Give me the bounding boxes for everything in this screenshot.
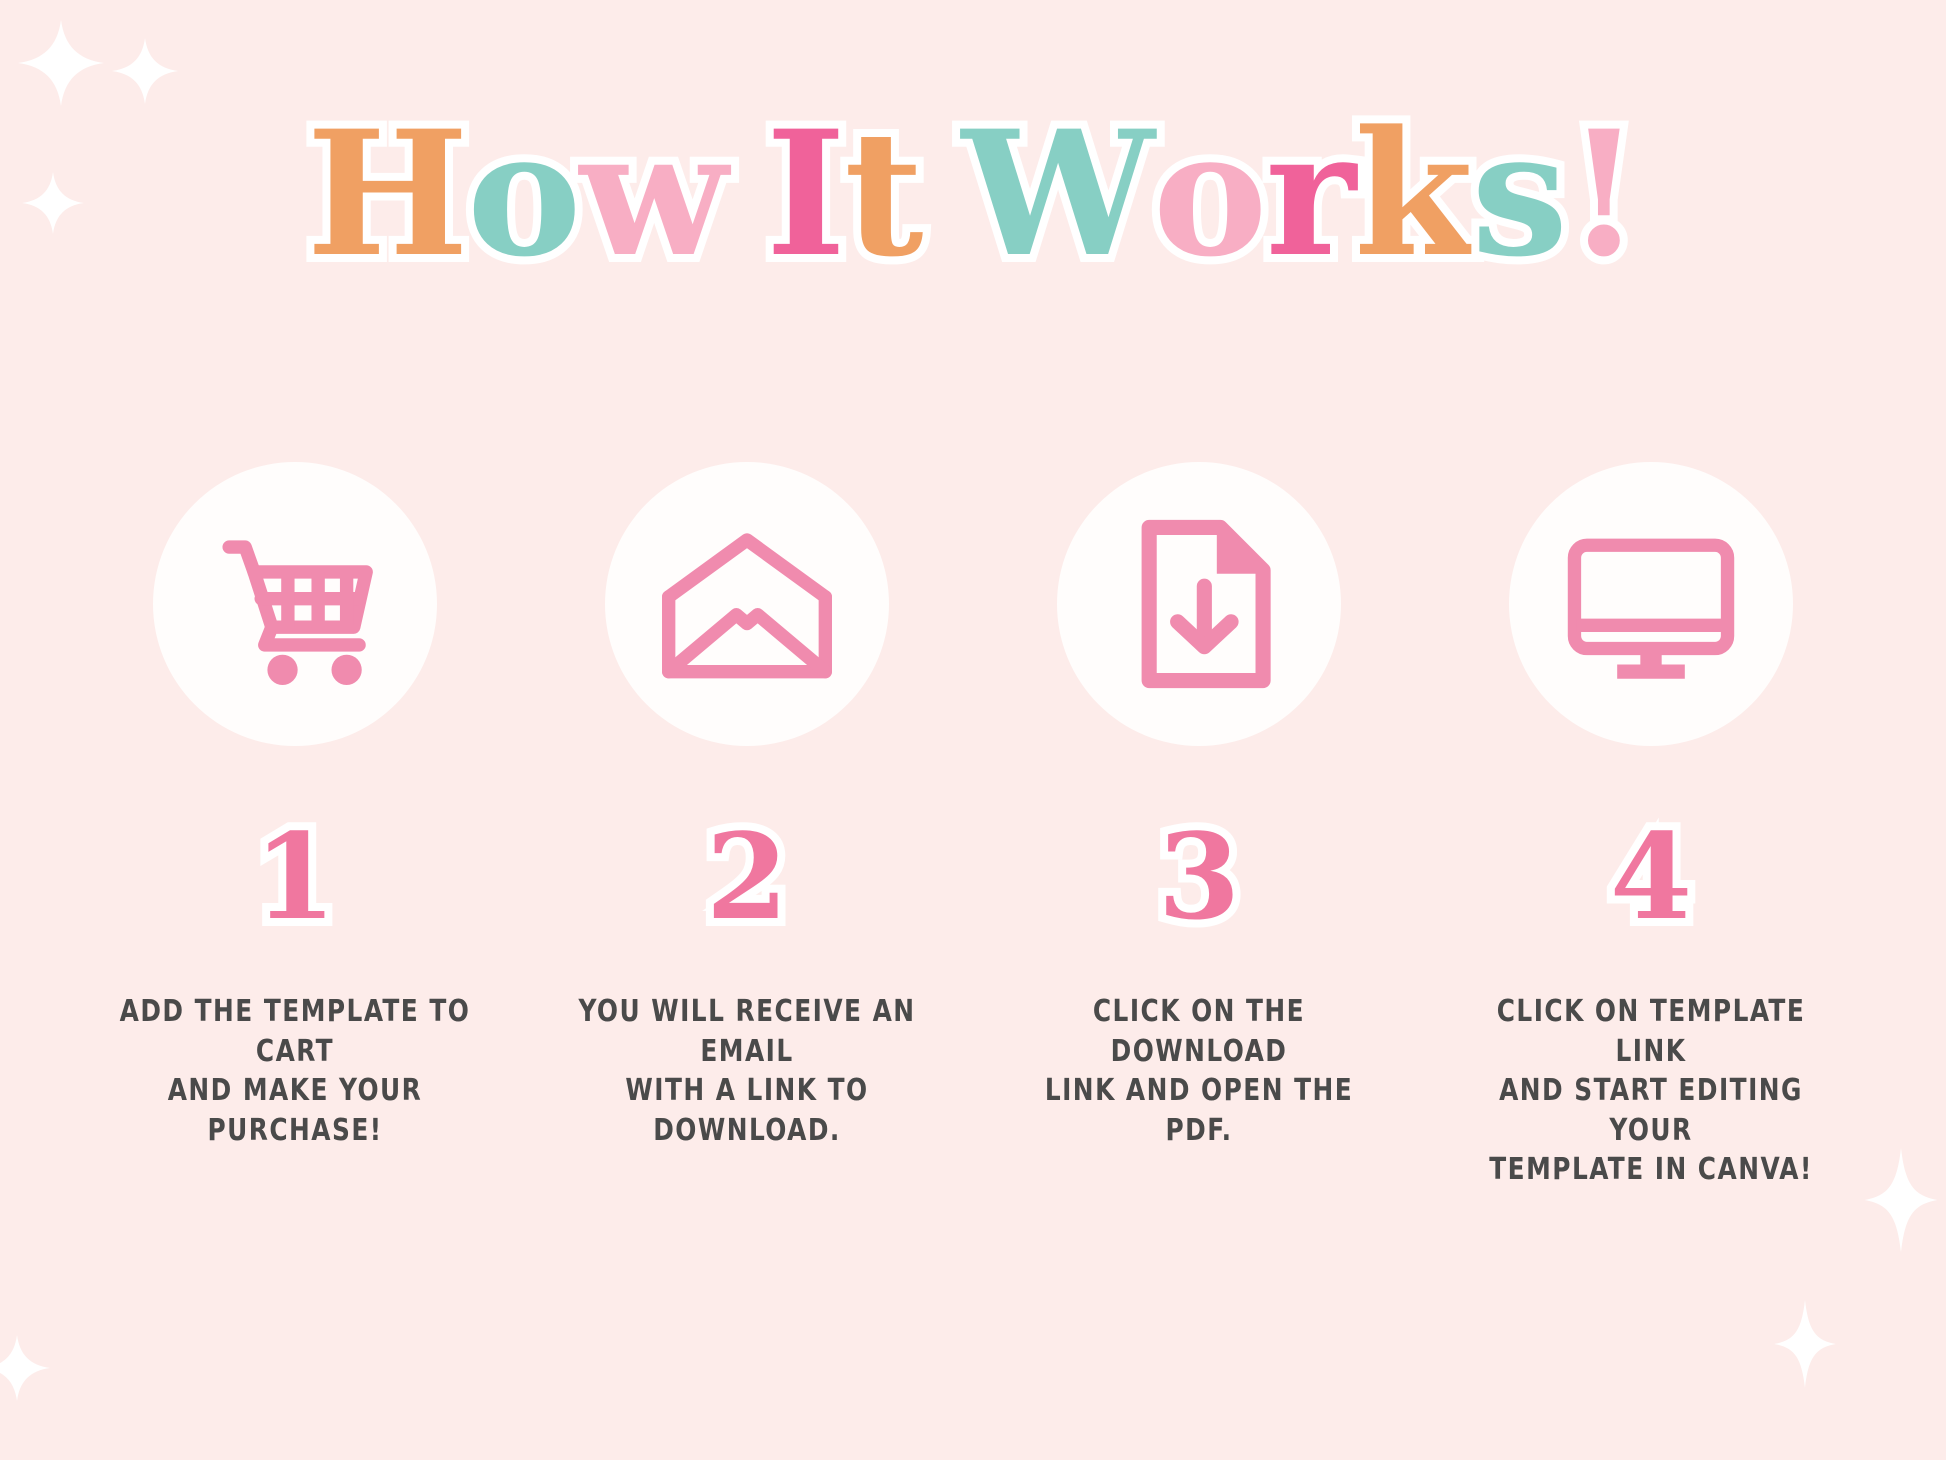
title-letter-9: r (1265, 108, 1354, 280)
step-2-caption: YOU WILL RECEIVE AN EMAIL WITH A LINK TO… (563, 992, 931, 1150)
sparkle-top-left-1-icon (18, 20, 104, 106)
title-letter-10: k (1354, 108, 1471, 280)
title-letter-8: o (1153, 108, 1266, 280)
step-3: 3 CLICK ON THE DOWNLOAD LINK AND OPEN TH… (999, 462, 1399, 1150)
title-letter-5: t (844, 108, 921, 280)
shopping-cart-icon (206, 515, 384, 693)
step-3-caption: CLICK ON THE DOWNLOAD LINK AND OPEN THE … (1015, 992, 1383, 1150)
title-letter-4: I (766, 108, 844, 280)
sparkle-bottom-right-1-icon (1862, 1148, 1940, 1252)
step-2: 2 YOU WILL RECEIVE AN EMAIL WITH A LINK … (547, 462, 947, 1150)
title-letter-1: o (467, 108, 580, 280)
step-4: 4 CLICK ON TEMPLATE LINK AND START EDITI… (1451, 462, 1851, 1190)
step-3-number: 3 (1158, 818, 1240, 936)
step-2-icon-circle (605, 462, 889, 746)
title-letter-0: H (306, 108, 467, 280)
step-4-number: 4 (1610, 818, 1692, 936)
step-1: 1 ADD THE TEMPLATE TO CART AND MAKE YOUR… (95, 462, 495, 1150)
step-1-number: 1 (254, 818, 336, 936)
step-2-number: 2 (706, 818, 788, 936)
document-download-icon (1110, 515, 1288, 693)
step-3-icon-circle (1057, 462, 1341, 746)
step-4-icon-circle (1509, 462, 1793, 746)
step-1-icon-circle (153, 462, 437, 746)
sparkle-bottom-right-2-icon (1772, 1300, 1838, 1388)
monitor-icon (1562, 515, 1740, 693)
title-letter-2: w (580, 108, 726, 280)
title-letter-11: s (1471, 108, 1566, 280)
step-1-caption: ADD THE TEMPLATE TO CART AND MAKE YOUR P… (111, 992, 479, 1150)
steps-row: 1 ADD THE TEMPLATE TO CART AND MAKE YOUR… (95, 462, 1851, 1190)
open-envelope-icon (658, 515, 836, 693)
sparkle-bottom-left-1-icon (0, 1335, 50, 1401)
page-title: HowItWorks! (296, 108, 1649, 280)
step-4-caption: CLICK ON TEMPLATE LINK AND START EDITING… (1467, 992, 1835, 1190)
sparkle-top-left-2-icon (112, 38, 178, 104)
title-letter-12: ! (1566, 108, 1640, 280)
page-title-container: HowItWorks! (0, 108, 1946, 280)
title-letter-7: W (962, 108, 1153, 280)
